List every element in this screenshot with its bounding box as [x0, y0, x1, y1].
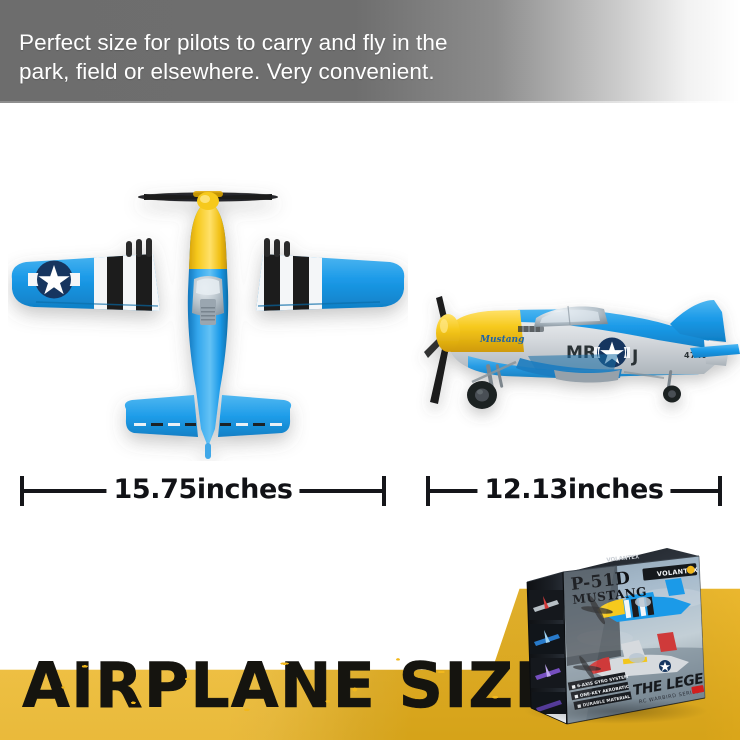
infographic-canvas: Perfect size for pilots to carry and fly… [0, 0, 740, 740]
gun-barrel [264, 238, 270, 257]
planes-area: Mustang MR [0, 103, 740, 493]
fuselage-code-right: J [631, 347, 638, 367]
banner-title-text: AIRPLANE SIZE [22, 655, 558, 717]
gun-barrel [126, 241, 132, 257]
side-spinner [436, 314, 460, 352]
wingspan-dimension: 15.75inches [20, 470, 386, 510]
left-stabilizer [125, 395, 198, 437]
plane-top-view [8, 161, 408, 461]
length-label: 12.13inches [477, 470, 670, 510]
product-box: VOLANTEX [505, 538, 737, 738]
gun-barrel [136, 239, 142, 257]
gun-barrel [284, 241, 290, 257]
nose-cowling [189, 201, 227, 269]
plane-side-view-svg: Mustang MR [408, 278, 740, 428]
exhaust-stacks [518, 326, 544, 332]
nose-art-text: Mustang [479, 335, 524, 345]
gun-barrel [274, 239, 280, 257]
dimension-cap-right [382, 476, 386, 506]
plane-side-view: Mustang MR [408, 278, 740, 428]
right-stabilizer [218, 395, 291, 437]
dimension-cap-right [718, 476, 722, 506]
banner-title: AIRPLANE SIZE [22, 655, 558, 717]
header-band: Perfect size for pilots to carry and fly… [0, 0, 740, 103]
wingspan-label: 15.75inches [106, 470, 299, 510]
dimension-bars: 15.75inches 12.13inches [0, 470, 740, 512]
header-description: Perfect size for pilots to carry and fly… [19, 28, 579, 86]
gun-barrel [146, 238, 152, 257]
rudder [205, 443, 211, 459]
box-shadow [523, 698, 708, 724]
length-dimension: 12.13inches [426, 470, 722, 510]
plane-top-view-svg [8, 161, 408, 461]
